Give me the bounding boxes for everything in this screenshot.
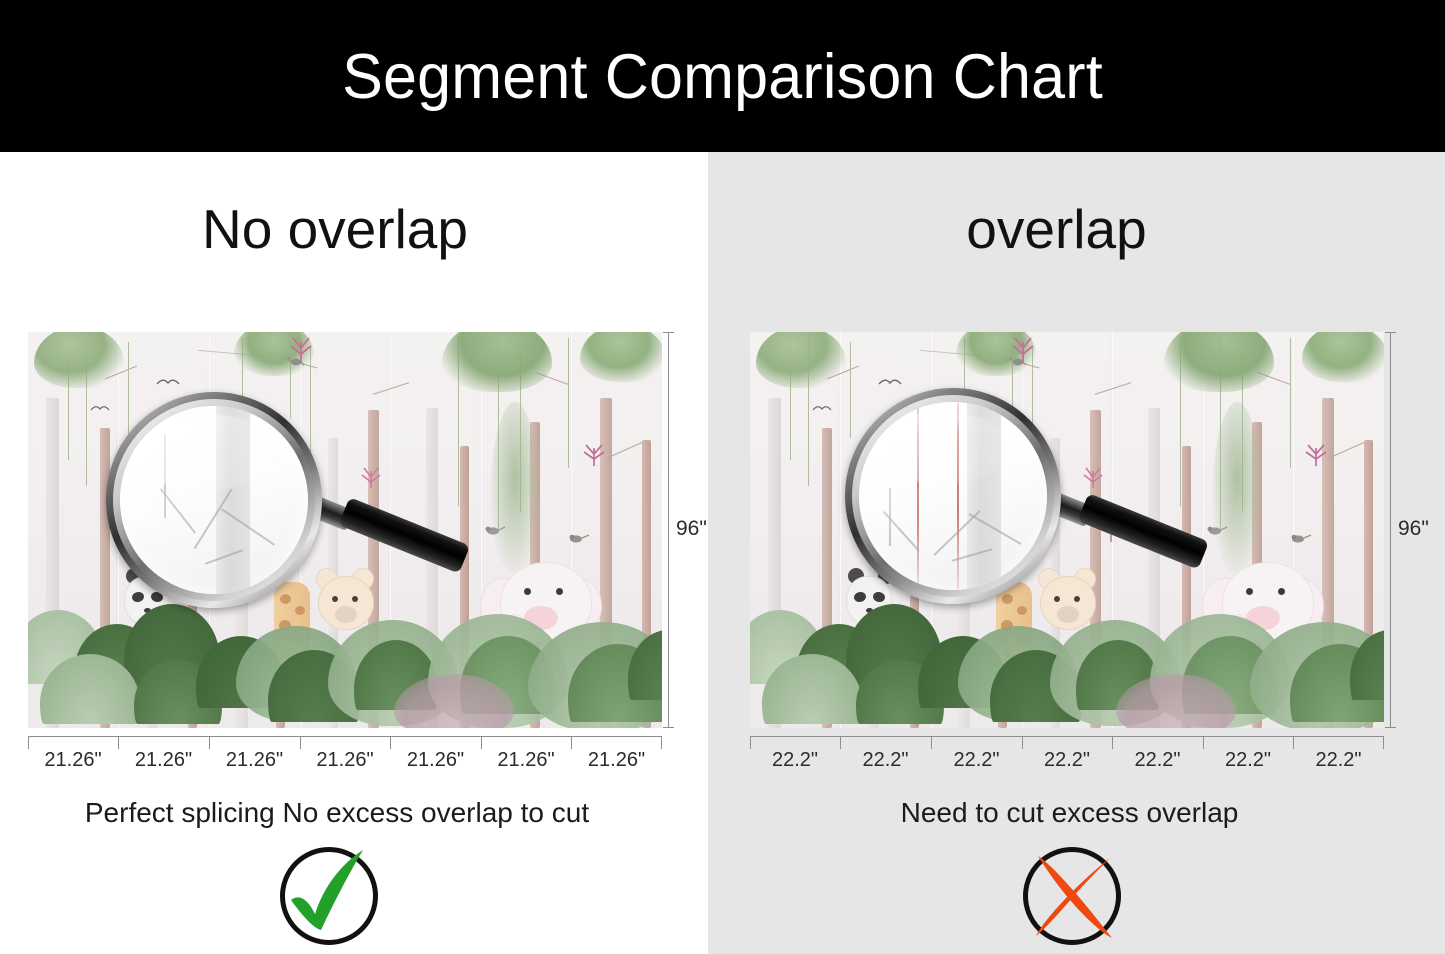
flower-icon xyxy=(1302,440,1330,473)
height-dimension-cap-top xyxy=(1385,332,1396,333)
flower-icon xyxy=(1008,334,1038,369)
segment-label: 22.2" xyxy=(840,749,931,772)
check-icon xyxy=(277,844,381,948)
height-dimension-cap-bottom xyxy=(1385,727,1396,728)
ruler-baseline xyxy=(750,736,1384,737)
bird-icon xyxy=(812,400,832,418)
bird-icon xyxy=(1290,532,1312,550)
segment-label: 22.2" xyxy=(1112,749,1203,772)
page-title: Segment Comparison Chart xyxy=(342,40,1103,113)
flower-icon xyxy=(286,334,316,369)
bird-icon xyxy=(878,374,902,392)
bird-icon xyxy=(156,374,180,392)
cross-icon xyxy=(1020,844,1124,948)
foliage-band xyxy=(28,578,662,728)
segment-ruler: 21.26" 21.26" 21.26" 21.26" 21.26" 21.26… xyxy=(28,736,662,772)
panel-overlap: overlap xyxy=(708,152,1445,954)
leaf-icon xyxy=(442,332,552,392)
verdict-overlap xyxy=(708,844,1440,948)
leaf-icon xyxy=(1164,332,1274,392)
caption-overlap: Need to cut excess overlap xyxy=(708,797,1438,829)
height-label: 96" xyxy=(676,517,707,541)
panel-heading-no-overlap: No overlap xyxy=(0,197,689,261)
segment-label: 22.2" xyxy=(1203,749,1293,772)
leaf-icon xyxy=(1302,332,1384,382)
panel-no-overlap: No overlap xyxy=(0,152,708,954)
bird-icon xyxy=(484,524,506,542)
verdict-no-overlap xyxy=(0,844,683,948)
segment-label: 22.2" xyxy=(1022,749,1112,772)
height-dimension-cap-bottom xyxy=(663,727,674,728)
vine-icon xyxy=(850,342,851,438)
bird-icon xyxy=(568,532,590,550)
flower-icon xyxy=(1080,464,1106,495)
ruler-baseline xyxy=(28,736,662,737)
segment-label: 21.26" xyxy=(118,749,209,772)
caption-no-overlap: Perfect splicing No excess overlap to cu… xyxy=(0,797,691,829)
segment-ruler: 22.2" 22.2" 22.2" 22.2" 22.2" 22.2" 22.2… xyxy=(750,736,1384,772)
segment-label: 21.26" xyxy=(390,749,481,772)
foliage-band xyxy=(750,578,1384,728)
segment-label: 22.2" xyxy=(931,749,1022,772)
bird-icon xyxy=(1206,524,1228,542)
flower-icon xyxy=(580,440,608,473)
height-label: 96" xyxy=(1398,517,1429,541)
segment-label: 21.26" xyxy=(300,749,390,772)
height-dimension-cap-top xyxy=(663,332,674,333)
title-bar: Segment Comparison Chart xyxy=(0,0,1445,152)
vine-icon xyxy=(1290,338,1291,468)
leaf-icon xyxy=(756,332,846,388)
flower-icon xyxy=(358,464,384,495)
mural-no-overlap: 96" 21.26" 21.26" 21.26" 21.26" 21.26" 2… xyxy=(28,332,662,728)
mural-artwork xyxy=(750,332,1384,728)
height-dimension-line xyxy=(1390,332,1391,728)
segment-label: 21.26" xyxy=(28,749,118,772)
leaf-icon xyxy=(34,332,124,388)
segment-label: 22.2" xyxy=(1293,749,1384,772)
height-dimension-line xyxy=(668,332,669,728)
chart-page: Segment Comparison Chart No overlap xyxy=(0,0,1445,954)
segment-label: 21.26" xyxy=(481,749,571,772)
segment-label: 21.26" xyxy=(571,749,662,772)
segment-label: 21.26" xyxy=(209,749,300,772)
mural-overlap: 96" 22.2" 22.2" 22.2" 22.2" 22.2" 22.2" … xyxy=(750,332,1384,728)
vine-icon xyxy=(568,338,569,468)
segment-label: 22.2" xyxy=(750,749,840,772)
bird-icon xyxy=(90,400,110,418)
leaf-icon xyxy=(580,332,662,382)
panel-heading-overlap: overlap xyxy=(708,197,1425,261)
